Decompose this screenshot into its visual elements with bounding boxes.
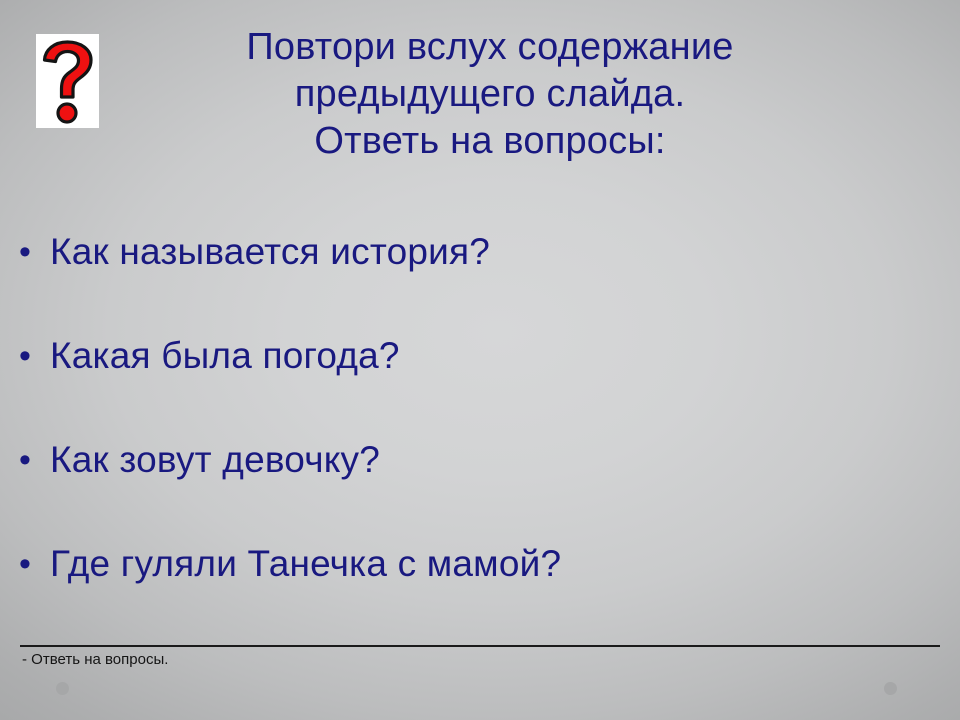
bullet-dot-icon: • — [0, 436, 50, 484]
footer-note: - Ответь на вопросы. — [22, 650, 168, 670]
list-item-label: Как называется история? — [50, 228, 960, 276]
decorative-dot-right — [884, 682, 897, 695]
list-item: • Как называется история? — [0, 228, 960, 332]
slide-canvas: Повтори вслух содержание предыдущего сла… — [0, 0, 960, 720]
list-item: • Какая была погода? — [0, 332, 960, 436]
bullet-dot-icon: • — [0, 332, 50, 380]
list-item-label: Где гуляли Танечка с мамой? — [50, 540, 960, 588]
list-item: • Где гуляли Танечка с мамой? — [0, 540, 960, 644]
title-line-1: Повтори вслух содержание — [120, 24, 860, 71]
page-title: Повтори вслух содержание предыдущего сла… — [120, 24, 860, 165]
title-line-3: Ответь на вопросы: — [120, 118, 860, 165]
list-item-label: Как зовут девочку? — [50, 436, 960, 484]
question-mark-glyph — [36, 34, 99, 128]
title-line-2: предыдущего слайда. — [120, 71, 860, 118]
bullet-dot-icon: • — [0, 540, 50, 588]
list-item: • Как зовут девочку? — [0, 436, 960, 540]
decorative-dot-left — [56, 682, 69, 695]
list-item-label: Какая была погода? — [50, 332, 960, 380]
question-mark-icon — [36, 34, 99, 128]
footer-divider — [20, 645, 940, 647]
question-list: • Как называется история? • Какая была п… — [0, 228, 960, 644]
bullet-dot-icon: • — [0, 228, 50, 276]
